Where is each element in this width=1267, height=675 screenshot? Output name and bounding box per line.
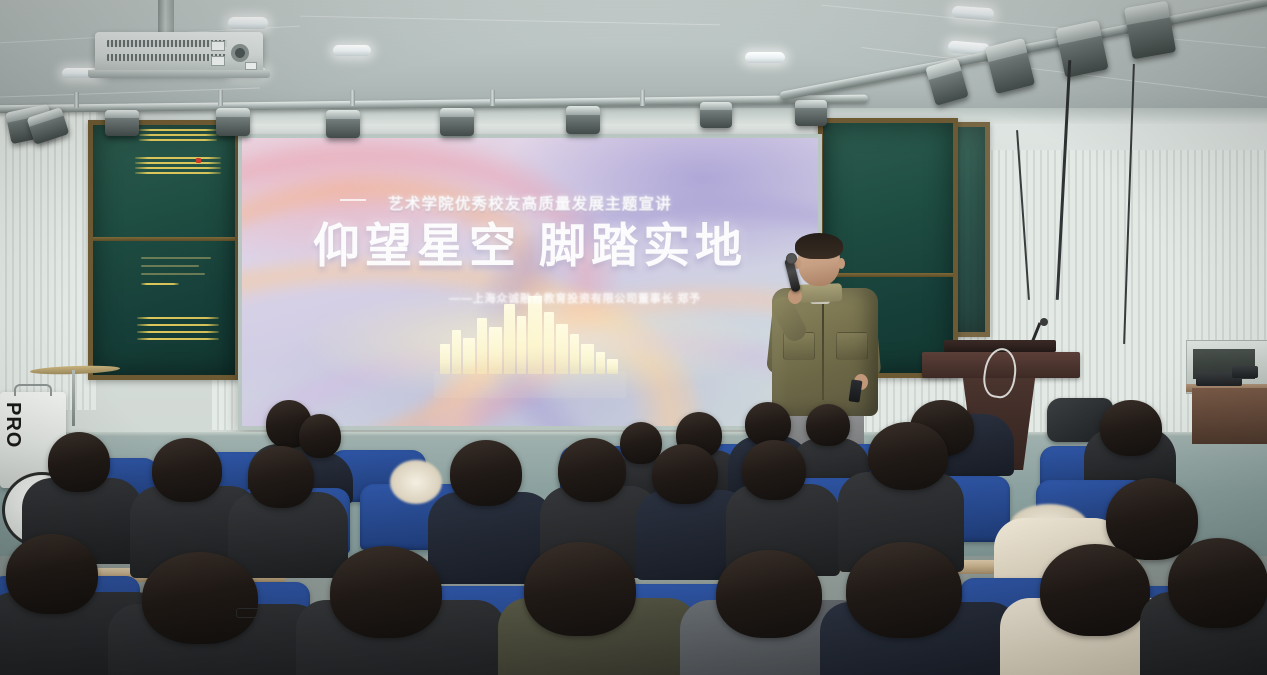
chalk-marking (137, 331, 219, 333)
fur-hood (390, 460, 442, 504)
audience-head (1100, 400, 1162, 456)
presenter-hair (795, 233, 843, 259)
screen-headline-main: 仰望星空 脚踏实地 (242, 222, 818, 269)
audience-head (716, 550, 822, 638)
chalk-marking (141, 273, 205, 275)
speaker-handle (14, 384, 52, 396)
chalk-marking (141, 283, 179, 285)
projector-panel (211, 41, 225, 51)
chalk-marking (141, 265, 199, 267)
presenter-ear (838, 258, 845, 269)
audience-head (299, 414, 341, 458)
projector-mount (158, 0, 174, 36)
microphone-head (786, 253, 797, 264)
audience-head (248, 446, 314, 508)
chalk-marking (139, 129, 217, 131)
screen-headline-small: 艺术学院优秀校友高质量发展主题宣讲 (242, 192, 818, 214)
audience-head (6, 534, 98, 614)
projector-panel (211, 56, 225, 66)
skyline-reflection (434, 372, 626, 398)
chalk-marking (139, 139, 217, 141)
chalk-marking (137, 317, 219, 319)
screen-subtitle: ——上海众诚融合教育投资有限公司董事长 郑予 (242, 290, 818, 306)
stage-light (105, 110, 139, 136)
audience-head (330, 546, 442, 638)
audience-head (1168, 538, 1267, 628)
ceiling-light (333, 45, 371, 56)
audience (0, 400, 1267, 675)
projector-fan (231, 44, 249, 62)
jacket-zip (822, 300, 824, 400)
stage-light (700, 102, 732, 128)
chalk-marking (139, 134, 217, 136)
chalkboard-divider (93, 237, 235, 241)
chalk-marking-red (196, 158, 201, 163)
jacket-pocket (836, 332, 868, 360)
audience-head (1040, 544, 1150, 636)
audience-head (142, 552, 258, 644)
truss-hanger (74, 92, 79, 108)
jacket-collar (798, 283, 843, 303)
ceiling-light (228, 17, 268, 29)
projector-panel (245, 62, 257, 70)
audience-head (450, 440, 522, 506)
podium-microphone-head (1040, 318, 1048, 326)
stage-light (1124, 1, 1176, 60)
truss-hanger (490, 90, 495, 106)
chalk-marking (135, 162, 221, 164)
audience-head (1106, 478, 1198, 560)
projection-screen-frame: 艺术学院优秀校友高质量发展主题宣讲 仰望星空 脚踏实地 ——上海众诚融合教育投资… (238, 134, 822, 430)
audience-head (524, 542, 636, 636)
ceiling-light (745, 52, 785, 63)
chalk-marking (135, 157, 221, 159)
eyeglasses (236, 608, 260, 618)
stage-light (440, 108, 474, 136)
truss-hanger (640, 90, 645, 106)
chalk-marking (135, 167, 221, 169)
projector-base (88, 70, 270, 78)
truss-hanger (350, 90, 355, 106)
chalk-marking (135, 172, 221, 174)
chalk-marking (137, 324, 219, 326)
truss-hanger (218, 90, 223, 106)
audience-head (558, 438, 626, 502)
stage-light (566, 106, 600, 134)
projection-screen: 艺术学院优秀校友高质量发展主题宣讲 仰望星空 脚踏实地 ——上海众诚融合教育投资… (242, 138, 818, 426)
chalk-marking (141, 257, 211, 259)
av-equipment (1232, 366, 1258, 378)
audience-head (48, 432, 110, 492)
chalk-marking (137, 338, 219, 340)
audience-head (652, 444, 718, 504)
ceiling-projector (95, 32, 263, 74)
chalkboard-left (88, 120, 240, 380)
audience-head (742, 440, 806, 500)
ceiling-seam (300, 16, 720, 26)
audience-head (152, 438, 222, 502)
stage-light (216, 108, 250, 136)
audience-head (806, 404, 850, 446)
lecture-hall-photo: 艺术学院优秀校友高质量发展主题宣讲 仰望星空 脚踏实地 ——上海众诚融合教育投资… (0, 0, 1267, 675)
projector-vent (107, 40, 227, 47)
audience-head (846, 542, 962, 638)
audience-head (868, 422, 948, 490)
stage-light (326, 110, 360, 138)
stage-light (795, 100, 827, 126)
projector-vent (107, 54, 227, 61)
